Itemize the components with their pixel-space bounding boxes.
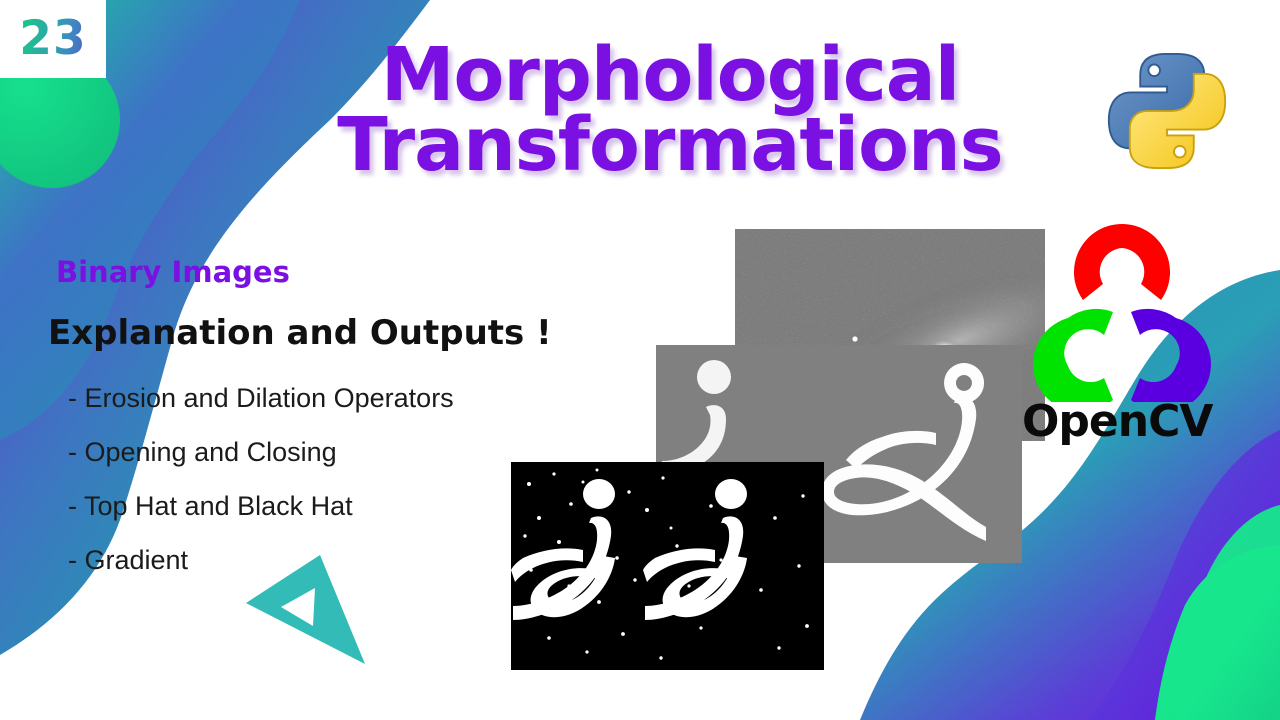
slide-number-badge: 23 — [0, 0, 106, 78]
subtitle-binary-images: Binary Images — [56, 255, 290, 289]
opencv-wordmark: OpenCV — [1022, 396, 1212, 447]
list-item: - Gradient — [68, 547, 454, 574]
list-item: - Opening and Closing — [68, 439, 454, 466]
list-item: - Top Hat and Black Hat — [68, 493, 454, 520]
python-logo-icon — [1103, 47, 1231, 175]
bullet-list: - Erosion and Dilation Operators - Openi… — [68, 385, 454, 601]
list-item: - Erosion and Dilation Operators — [68, 385, 454, 412]
headline-explanation-outputs: Explanation and Outputs ! — [48, 313, 552, 353]
page-title: Morphological Transformations — [330, 40, 1010, 181]
opencv-logo-icon — [1020, 222, 1224, 402]
slide-canvas: 23 Morphological Transformations Binary … — [0, 0, 1280, 720]
slide-number-value: 23 — [0, 0, 106, 78]
page-title-line-2: Transformations — [330, 110, 1010, 180]
